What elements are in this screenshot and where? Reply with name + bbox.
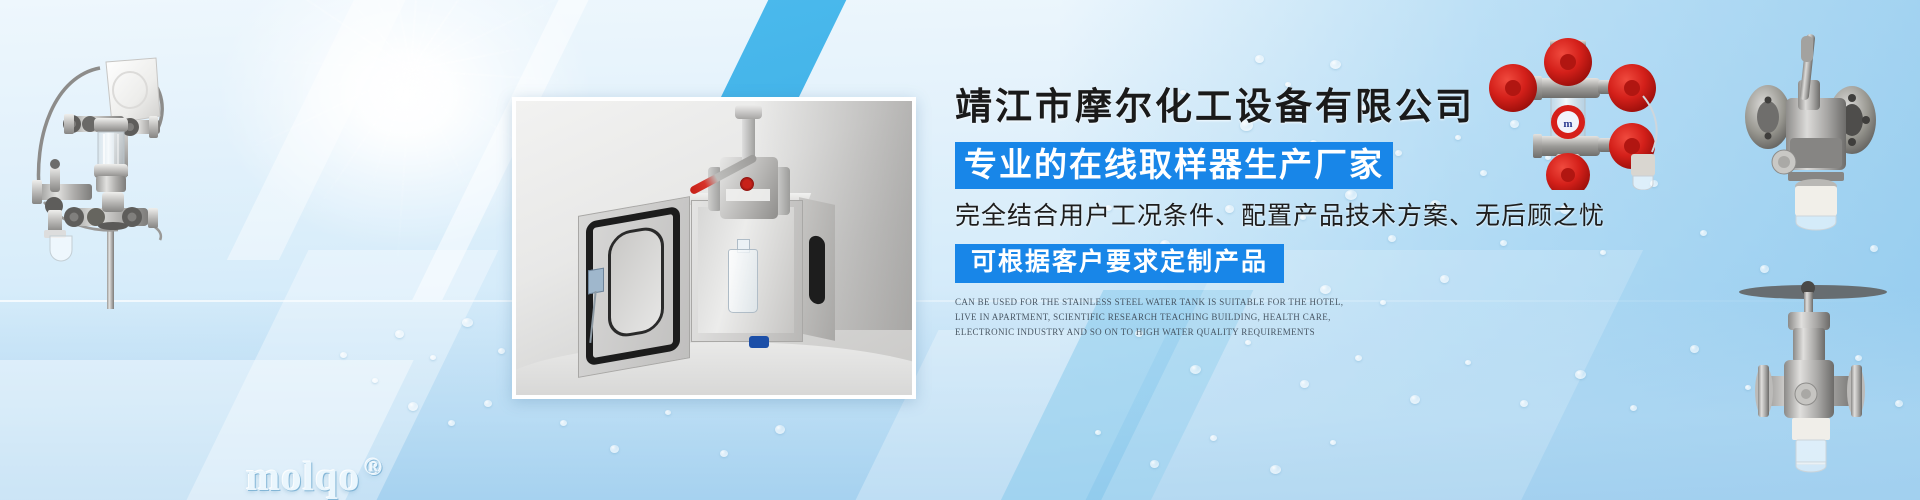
cabinet-handle (809, 235, 825, 306)
water-droplet (1190, 365, 1201, 374)
water-droplet (1245, 340, 1251, 345)
cabinet-door-window (608, 224, 664, 340)
water-droplet (1520, 400, 1528, 407)
product-photo (512, 97, 916, 399)
water-droplet (462, 318, 473, 327)
registered-trademark-icon: ® (364, 455, 383, 481)
water-droplet (484, 400, 492, 407)
water-droplet (1150, 460, 1159, 468)
water-droplet (720, 450, 728, 457)
photo-table-surface (516, 342, 912, 395)
water-droplet (1255, 55, 1264, 63)
gate-valve-image (1720, 270, 1920, 475)
slogan-main-highlight: 专业的在线取样器生产厂家 (955, 142, 1393, 190)
valve-brand-badge-icon (740, 177, 754, 191)
product-photo-image (516, 101, 912, 395)
svg-text:m: m (1563, 118, 1572, 130)
red-handwheel-valve-image: m (1480, 30, 1700, 190)
water-droplet (665, 410, 671, 415)
lever-valve-image (1700, 20, 1920, 240)
sampling-bottle-cap (749, 336, 769, 348)
left-sampler-equipment-image (8, 24, 188, 309)
water-droplet (340, 352, 347, 358)
water-droplet (395, 330, 404, 338)
slogan-tagline-highlight: 可根据客户要求定制产品 (955, 244, 1284, 284)
water-droplet (1575, 370, 1586, 379)
water-droplet (1210, 435, 1217, 441)
water-droplet (1600, 250, 1606, 255)
water-droplet (1410, 395, 1420, 404)
water-droplet (408, 402, 418, 411)
company-name: 靖江市摩尔化工设备有限公司 (955, 88, 1515, 129)
water-droplet (610, 445, 619, 453)
headline-text-block: 靖江市摩尔化工设备有限公司 专业的在线取样器生产厂家 完全结合用户工况条件、配置… (955, 88, 1515, 340)
water-droplet (1630, 405, 1637, 411)
promotional-banner: 靖江市摩尔化工设备有限公司 专业的在线取样器生产厂家 完全结合用户工况条件、配置… (0, 0, 1920, 500)
sampling-bottle (728, 249, 758, 313)
water-droplet (1465, 360, 1471, 365)
diagonal-stripe-white-1 (227, 0, 425, 260)
water-droplet (1330, 60, 1341, 69)
english-description: CAN BE USED FOR THE STAINLESS STEEL WATE… (955, 295, 1365, 340)
water-droplet (1095, 430, 1101, 435)
water-droplet (1300, 380, 1309, 388)
brand-watermark-text: molqo (246, 453, 360, 499)
valve-top-cap (735, 105, 762, 119)
water-droplet (1690, 345, 1699, 353)
water-droplet (448, 420, 455, 426)
water-droplet (560, 420, 567, 426)
water-droplet (1330, 440, 1336, 445)
water-droplet (430, 355, 436, 360)
water-droplet (1355, 355, 1362, 361)
slogan-subtitle: 完全结合用户工况条件、配置产品技术方案、无后顾之忧 (955, 203, 1515, 231)
water-droplet (1270, 465, 1281, 474)
water-droplet (498, 348, 505, 354)
water-droplet (775, 425, 785, 434)
water-droplet (372, 378, 378, 383)
water-droplet (1870, 245, 1878, 252)
brand-watermark: molqo® (246, 452, 383, 500)
